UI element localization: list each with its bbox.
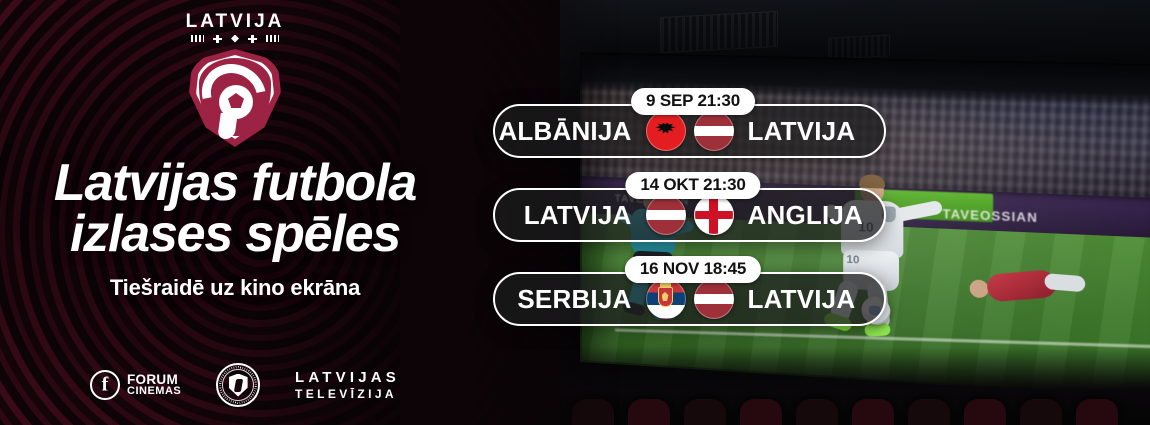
- latvia-national-team-logo: LATVIJA: [183, 12, 287, 152]
- match-row: 9 SEP 21:30 ALBĀNIJA LATVIJA: [493, 88, 893, 172]
- match-date-badge: 16 NOV 18:45: [625, 256, 761, 283]
- latvia-flag-icon: [646, 195, 686, 235]
- serbia-flag-icon: [646, 279, 686, 319]
- latvia-flag-icon: [694, 111, 734, 151]
- page-subtitle: Tiešraidē uz kino ekrāna: [0, 275, 470, 301]
- ceiling-vent-secondary-icon: [828, 34, 890, 59]
- match-row: 16 NOV 18:45 SERBIJA LATVIJA: [493, 256, 893, 340]
- sponsor-forum-cinemas[interactable]: FORUM CINEMAS: [90, 370, 181, 400]
- match-list: 9 SEP 21:30 ALBĀNIJA LATVIJA 14 OKT 21:3…: [493, 88, 893, 338]
- match-flags: [646, 279, 734, 319]
- page-title: Latvijas futbola izlases spēles: [0, 158, 470, 261]
- promo-banner: TAVEOSSIAN TAVEOSSIAN 10 10: [0, 0, 1150, 425]
- sponsor-lff-seal-icon[interactable]: [216, 363, 260, 407]
- logo-wordmark: LATVIJA: [183, 12, 287, 31]
- ltv-label: LATVIJAS TELEVĪZIJA: [295, 369, 400, 401]
- away-team-name: LATVIJA: [734, 284, 884, 315]
- home-team-name: LATVIJA: [496, 200, 646, 231]
- ceiling-vent-icon: [660, 11, 778, 53]
- forum-cinemas-f-icon: [90, 370, 120, 400]
- crest-shield-icon: [189, 49, 281, 147]
- ltv-line-2: TELEVĪZIJA: [295, 387, 400, 401]
- forum-cinemas-label: FORUM CINEMAS: [127, 373, 181, 398]
- latvia-flag-icon: [694, 279, 734, 319]
- away-team-name: LATVIJA: [734, 116, 884, 147]
- england-flag-icon: [694, 195, 734, 235]
- sponsor-latvijas-televizija[interactable]: LATVIJAS TELEVĪZIJA: [295, 369, 400, 401]
- match-date-badge: 14 OKT 21:30: [625, 172, 760, 199]
- home-team-name: ALBĀNIJA: [496, 116, 646, 147]
- headline-line-1: Latvijas futbola: [54, 154, 416, 212]
- ltv-line-1: LATVIJAS: [295, 369, 400, 387]
- away-team-name: ANGLIJA: [734, 200, 884, 231]
- match-flags: [646, 195, 734, 235]
- match-flags: [646, 111, 734, 151]
- crest-ball-icon: [219, 85, 253, 119]
- sponsor-logos: FORUM CINEMAS LATVIJAS TELEVĪZIJA: [90, 358, 400, 412]
- albania-flag-icon: [646, 111, 686, 151]
- forum-cinemas-line-2: CINEMAS: [127, 386, 181, 397]
- home-team-name: SERBIJA: [496, 284, 646, 315]
- logo-ornament-band: [191, 34, 279, 43]
- forum-cinemas-line-1: FORUM: [127, 372, 178, 387]
- match-date-badge: 9 SEP 21:30: [631, 88, 755, 115]
- match-row: 14 OKT 21:30 LATVIJA ANGLIJA: [493, 172, 893, 256]
- headline-line-2: izlases spēles: [0, 209, 470, 260]
- fallen-player: [965, 260, 1092, 319]
